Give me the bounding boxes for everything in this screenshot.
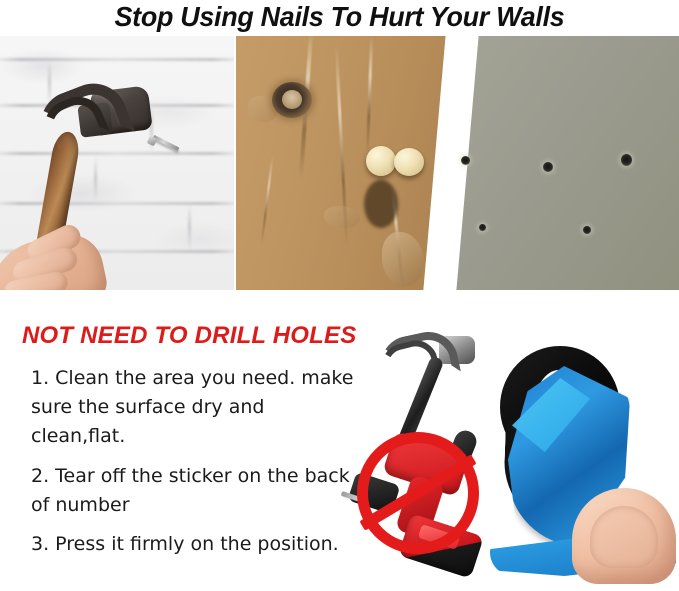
no-drill-heading: NOT NEED TO DRILL HOLES (22, 322, 356, 350)
drill-hole (583, 226, 591, 234)
nail-head-shadow (364, 180, 398, 228)
nail-in-wall (153, 135, 180, 151)
drill-hole (461, 156, 470, 165)
photo-damaged-tan-wall (236, 36, 452, 290)
hammer-head (35, 77, 153, 142)
brick-mortar-line (0, 202, 234, 205)
product-infographic: Stop Using Nails To Hurt Your Walls (0, 0, 679, 591)
no-hammer-no-drill-graphic (345, 332, 495, 582)
instruction-step: 1. Clean the area you need. make sure th… (31, 364, 361, 451)
drill-hole (543, 162, 553, 172)
nail-head-right (394, 148, 424, 176)
photo-grey-wall-drill-holes (455, 36, 679, 290)
drill-hole (479, 224, 486, 231)
photo-strip (0, 36, 679, 290)
brick-joint (188, 204, 191, 250)
paint-crack (261, 156, 274, 246)
paint-flake (382, 232, 424, 286)
paint-crack (366, 36, 373, 156)
hammer-head (379, 334, 475, 368)
brick-mortar-line (0, 58, 234, 61)
thumbnail (590, 506, 658, 568)
photo-hammer-nail-brick-wall (0, 36, 234, 290)
brick-mortar-line (0, 152, 234, 155)
panel-divider (421, 36, 452, 290)
page-title: Stop Using Nails To Hurt Your Walls (14, 0, 666, 34)
instruction-step: 2. Tear off the sticker on the back of n… (31, 462, 361, 520)
paint-flake (324, 206, 360, 228)
instruction-step: 3. Press it firmly on the position. (31, 530, 361, 559)
instruction-list: 1. Clean the area you need. make sure th… (31, 364, 361, 559)
brick-joint (94, 156, 97, 202)
nail-head-left (366, 146, 396, 176)
drill-hole (621, 154, 632, 166)
tape-peel-graphic (486, 338, 678, 591)
wall-gouge-hole-inner (282, 90, 302, 109)
